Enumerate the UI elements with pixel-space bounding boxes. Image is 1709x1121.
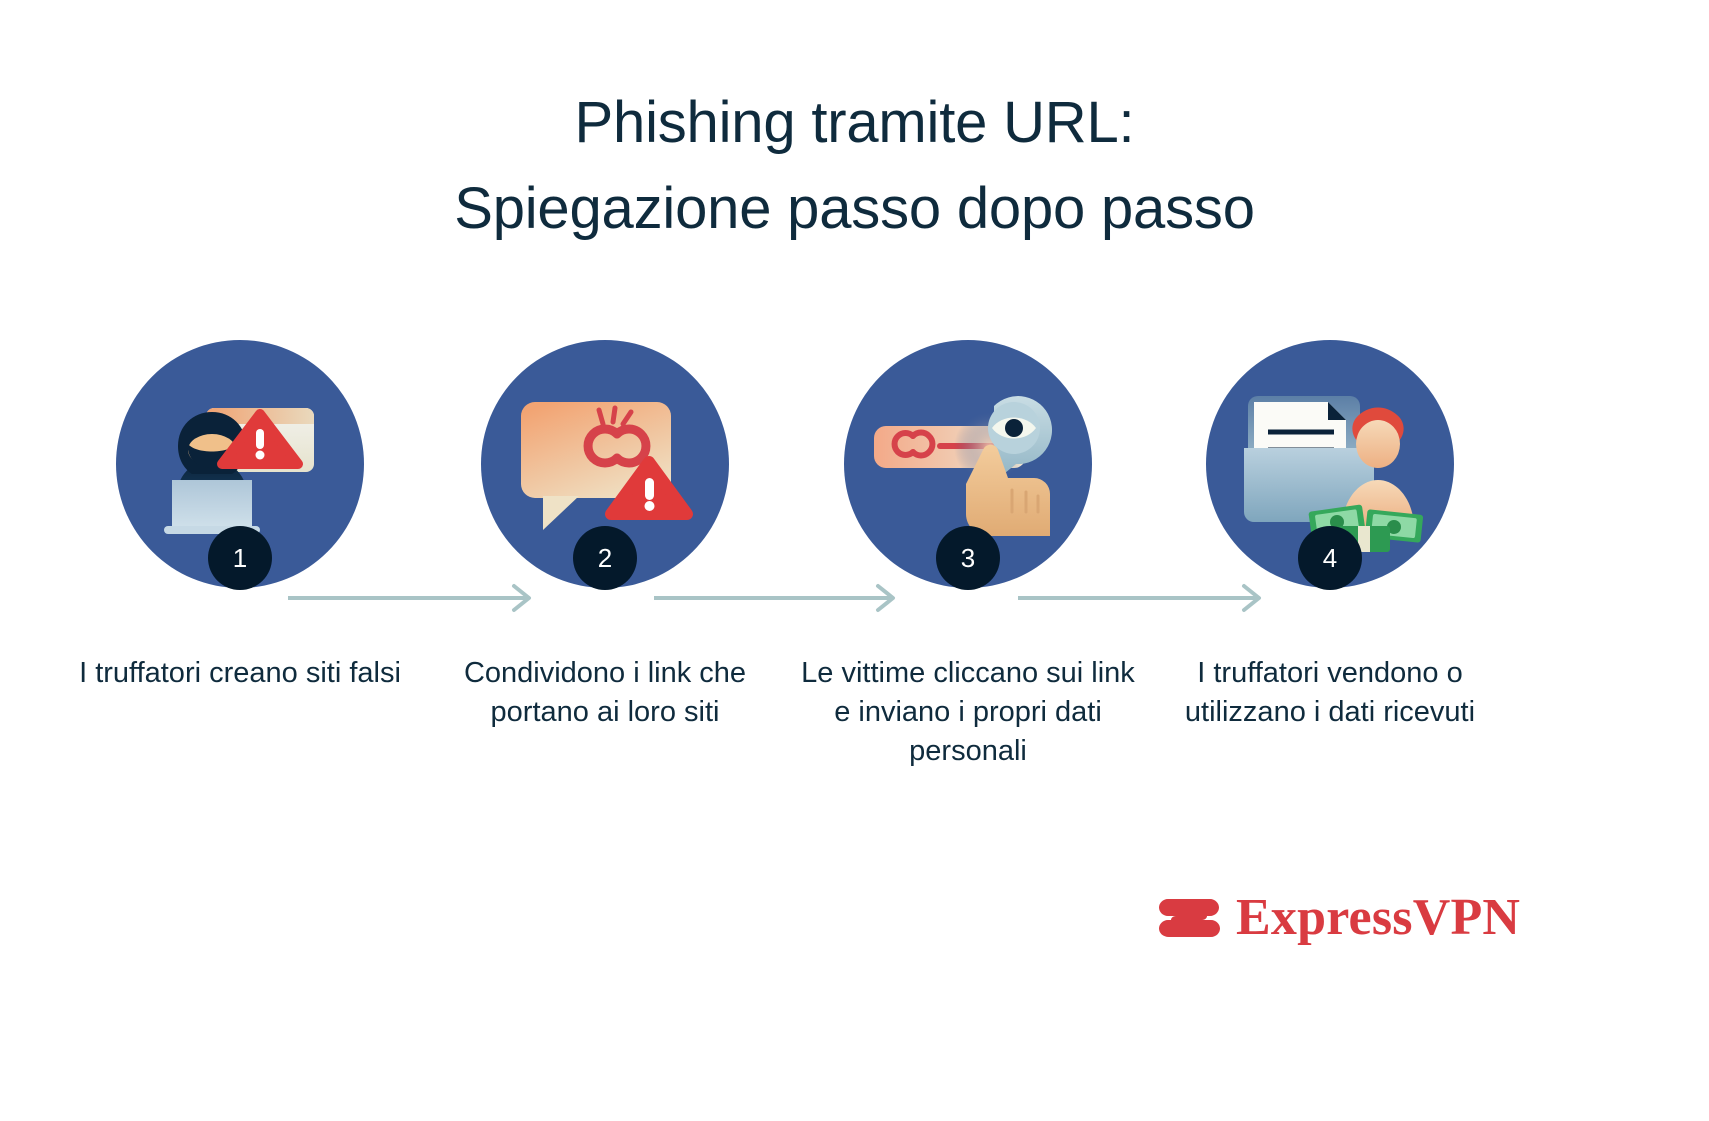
step-1-circle-wrap: 1 — [116, 340, 364, 588]
step-1-number-badge: 1 — [208, 526, 272, 590]
step-3-caption: Le vittime cliccano sui link e inviano i… — [788, 654, 1148, 771]
expressvpn-logo: ExpressVPN — [1158, 888, 1520, 947]
step-2-number-badge: 2 — [573, 526, 637, 590]
page-title: Phishing tramite URL: Spiegazione passo … — [0, 80, 1709, 252]
expressvpn-e-mark-icon — [1158, 889, 1220, 947]
step-item-4: 4 I truffatori vendono o utilizzano i da… — [1150, 340, 1510, 732]
step-3-number-badge: 3 — [936, 526, 1000, 590]
step-3-circle-wrap: 3 — [844, 340, 1092, 588]
step-4-caption: I truffatori vendono o utilizzano i dati… — [1150, 654, 1510, 732]
step-1-caption: I truffatori creano siti falsi — [60, 654, 420, 693]
step-item-3: 3 Le vittime cliccano sui link e inviano… — [788, 340, 1148, 771]
expressvpn-wordmark: ExpressVPN — [1236, 888, 1520, 947]
step-4-number-badge: 4 — [1298, 526, 1362, 590]
steps-row: 1 I truffatori creano siti falsi — [0, 340, 1709, 820]
step-item-1: 1 I truffatori creano siti falsi — [60, 340, 420, 693]
title-line-1: Phishing tramite URL: — [0, 80, 1709, 166]
step-2-circle-wrap: 2 — [481, 340, 729, 588]
step-4-circle-wrap: 4 — [1206, 340, 1454, 588]
step-item-2: 2 Condividono i link che portano ai loro… — [425, 340, 785, 732]
title-line-2: Spiegazione passo dopo passo — [0, 166, 1709, 252]
step-2-caption: Condividono i link che portano ai loro s… — [425, 654, 785, 732]
